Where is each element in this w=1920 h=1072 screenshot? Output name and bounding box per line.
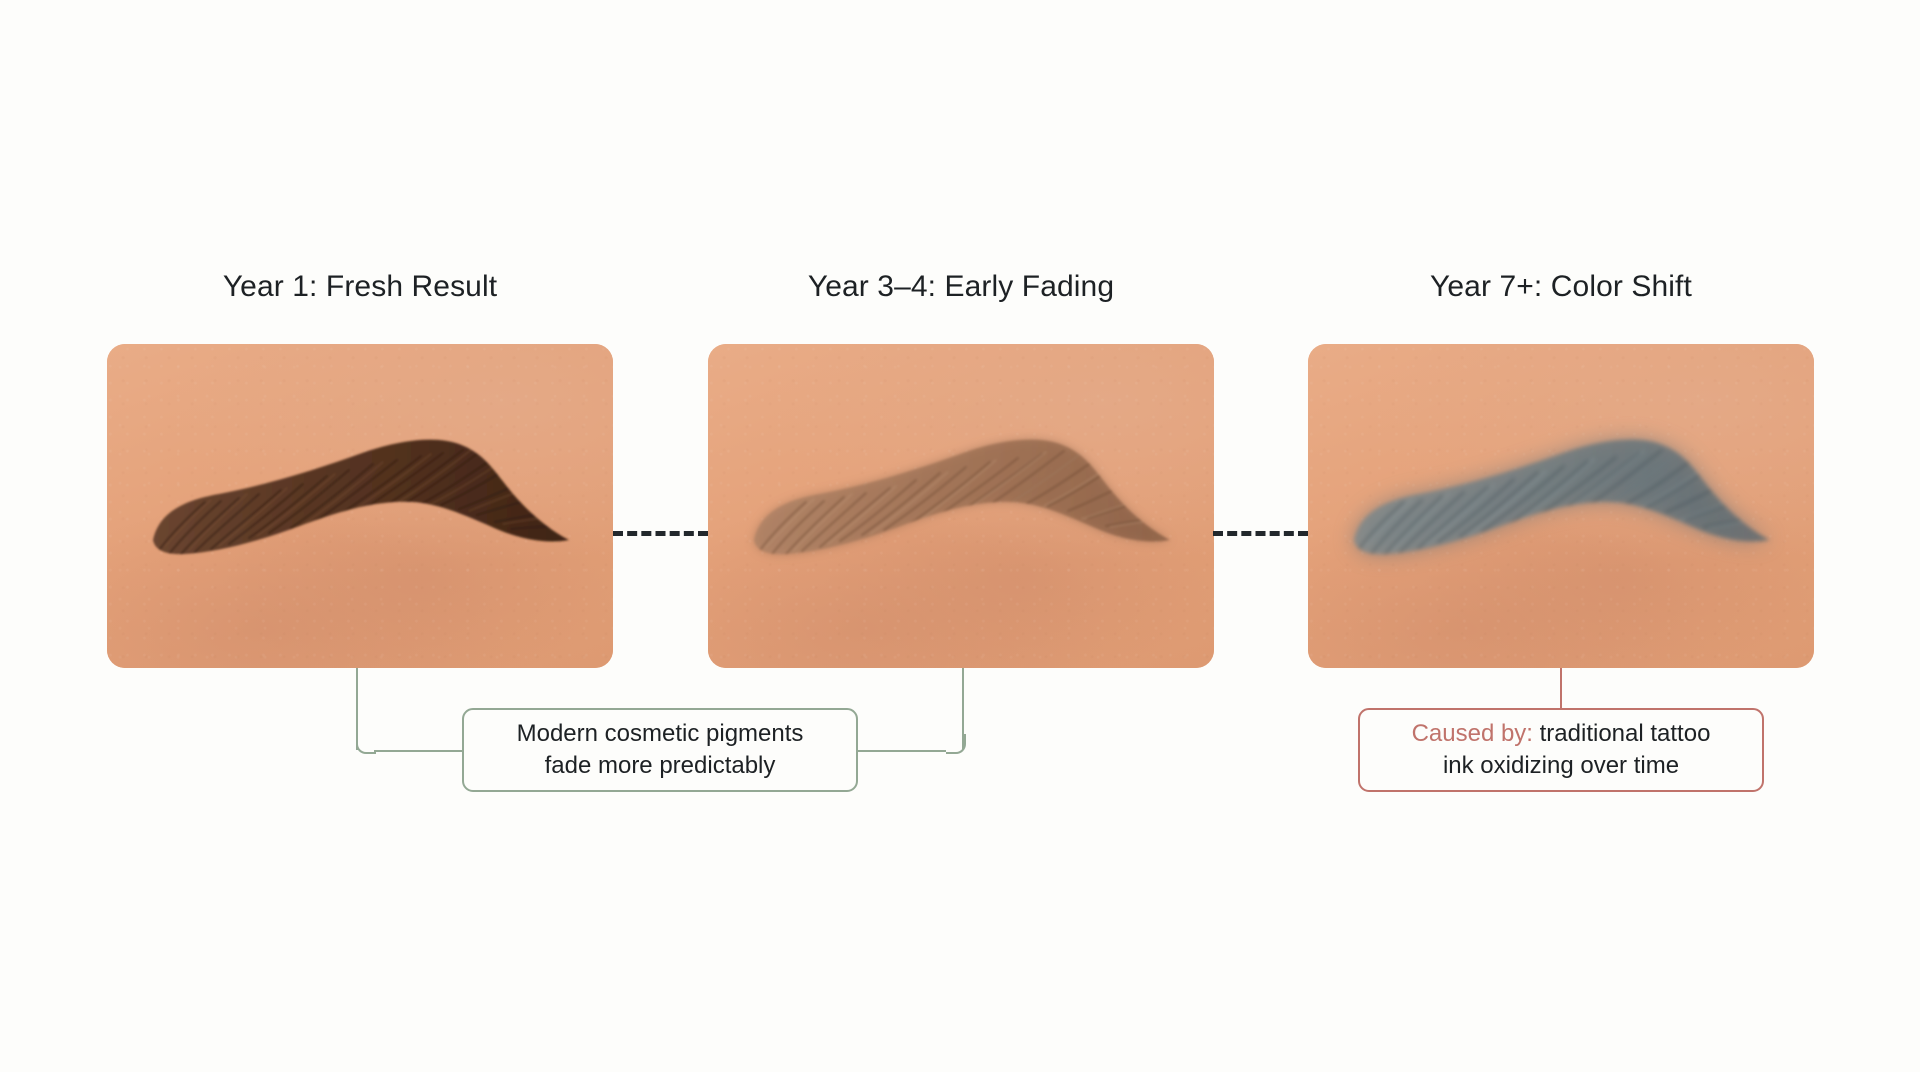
callout-pigment-note: Modern cosmetic pigments fade more predi… [462, 708, 858, 792]
connector-dashed-1-2 [613, 531, 708, 536]
brow-panel-fresh [107, 344, 613, 668]
eyebrow-color-shift [1308, 344, 1814, 668]
eyebrow-fresh [107, 344, 613, 668]
brow-panel-early-fading [708, 344, 1214, 668]
diagram-canvas: Year 1: Fresh Result Year 3–4: Early Fad… [0, 0, 1920, 1072]
callout-pigment-line-1: Modern cosmetic pigments [517, 720, 804, 747]
stage-title-fresh: Year 1: Fresh Result [107, 270, 613, 304]
bracket-arm-right [856, 750, 946, 752]
callout-pigment-text: Modern cosmetic pigments fade more predi… [517, 718, 804, 781]
bracket-corner-left [356, 734, 376, 754]
callout-pigment-line-2: fade more predictably [545, 752, 776, 779]
callout-cause-text: Caused by: traditional tattoo ink oxidiz… [1412, 718, 1711, 781]
bracket-arm-left [374, 750, 464, 752]
brow-panel-color-shift [1308, 344, 1814, 668]
callout-cause-line-2: ink oxidizing over time [1443, 752, 1679, 779]
cause-connector-line [1560, 668, 1562, 708]
connector-dashed-2-3 [1213, 531, 1308, 536]
bracket-corner-right [946, 734, 966, 754]
eyebrow-early-fading [708, 344, 1214, 668]
callout-cause-lead: Caused by: [1412, 720, 1533, 747]
stage-title-color-shift: Year 7+: Color Shift [1308, 270, 1814, 304]
callout-cause-note: Caused by: traditional tattoo ink oxidiz… [1358, 708, 1764, 792]
stage-title-early-fading: Year 3–4: Early Fading [708, 270, 1214, 304]
callout-cause-line-1: traditional tattoo [1540, 720, 1711, 747]
